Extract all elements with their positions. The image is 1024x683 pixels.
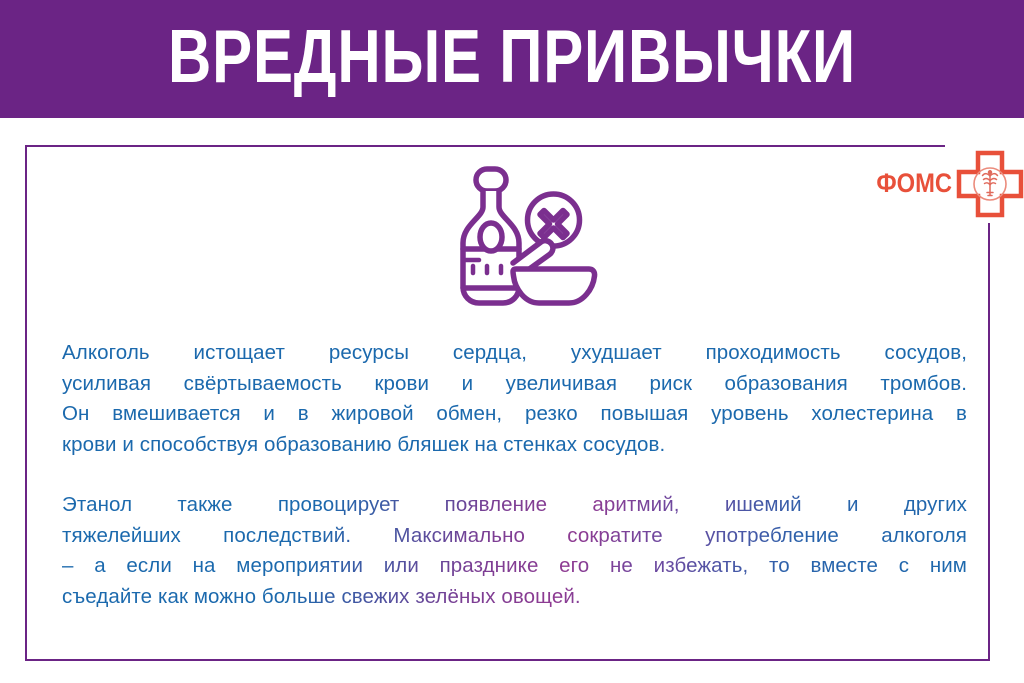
paragraph-ethanol-advice: Этанол также провоцирует появление аритм…: [62, 490, 967, 612]
body-text-block: Алкоголь истощает ресурсы сердца, ухудша…: [62, 338, 967, 612]
paragraph1-line-2: усиливая свёртываемость крови и увеличив…: [62, 369, 967, 400]
card-border-left: [25, 145, 27, 661]
paragraph2-line-1: Этанол также провоцирует появление аритм…: [62, 490, 967, 521]
page-title: ВРЕДНЫЕ ПРИВЫЧКИ: [102, 0, 921, 118]
paragraph1-line-1: Алкоголь истощает ресурсы сердца, ухудша…: [62, 338, 967, 369]
paragraph1-line-4: крови и способствуя образованию бляшек н…: [62, 430, 967, 461]
card-border-bottom: [25, 659, 990, 661]
paragraph2-line-2: тяжелейших последствий. Максимально сокр…: [62, 521, 967, 552]
medical-cross-caduceus-icon: [954, 148, 1024, 220]
alcohol-bottle-prohibited-icon: [443, 163, 598, 313]
infographic-poster: ВРЕДНЫЕ ПРИВЫЧКИ ФОМС: [0, 0, 1024, 683]
card-border-top: [25, 145, 945, 147]
paragraph2-line-3: – а если на мероприятии или празднике ег…: [62, 551, 967, 582]
foms-logo-text: ФОМС: [876, 170, 952, 199]
paragraph1-line-3: Он вмешивается и в жировой обмен, резко …: [62, 399, 967, 430]
card-border-right: [988, 223, 990, 661]
paragraph2-line-4: съедайте как можно больше свежих зелёных…: [62, 582, 967, 613]
paragraph-alcohol-effects: Алкоголь истощает ресурсы сердца, ухудша…: [62, 338, 967, 460]
foms-logo: ФОМС: [866, 148, 1024, 220]
